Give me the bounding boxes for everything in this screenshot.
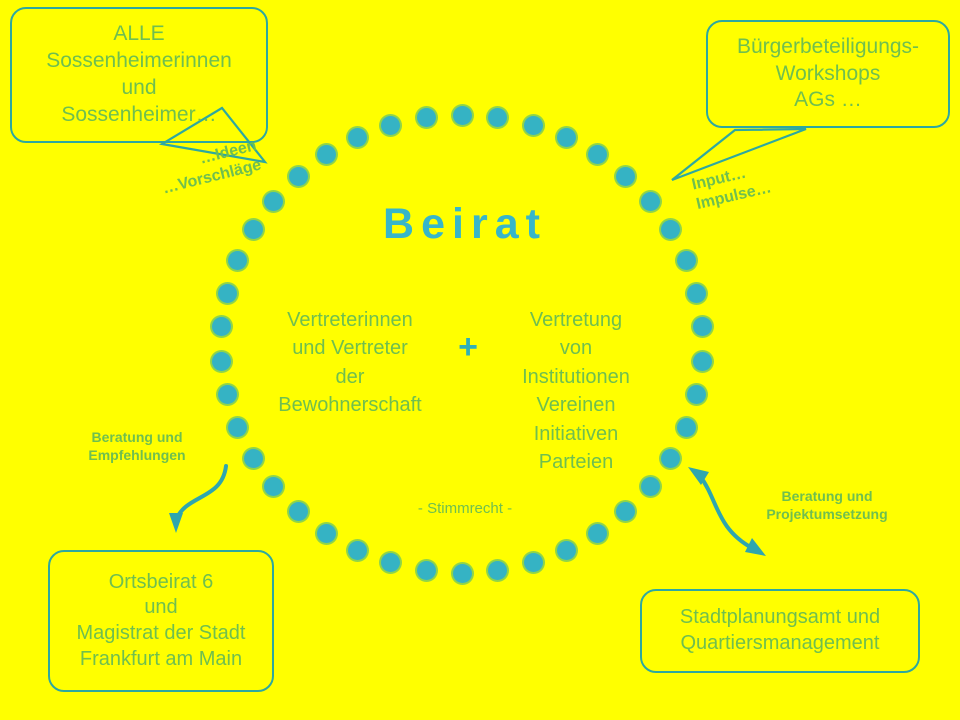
ring-dot [264, 192, 283, 211]
ring-dot [317, 524, 336, 543]
ring-dot [661, 449, 680, 468]
ring-dot [524, 553, 543, 572]
ring-dot [641, 477, 660, 496]
bubble-ortsbeirat-magistrat[interactable]: Ortsbeirat 6 und Magistrat der Stadt Fra… [48, 550, 274, 692]
bubble-ortsbeirat-magistrat-label: Ortsbeirat 6 und Magistrat der Stadt Fra… [60, 570, 262, 672]
ring-dot [677, 418, 696, 437]
ring-dot [616, 502, 635, 521]
ring-dot [289, 167, 308, 186]
ring-dot [417, 561, 436, 580]
ring-dot [381, 116, 400, 135]
ring-dot [453, 564, 472, 583]
ring-dot [677, 251, 696, 270]
arrow-label-beratung-empfehlungen: Beratung und Empfehlungen [62, 428, 212, 464]
ring-dot [218, 284, 237, 303]
ring-dot [348, 128, 367, 147]
ring-dot [616, 167, 635, 186]
ring-dot [693, 352, 712, 371]
ring-dot [687, 385, 706, 404]
ring-dot [228, 251, 247, 270]
ring-dot [228, 418, 247, 437]
center-column-right: Vertretung von Institutionen Vereinen In… [488, 306, 664, 476]
ring-dot [588, 145, 607, 164]
bubble-stadtplanungsamt-quartiersmanagement-label: Stadtplanungsamt und Quartiersmanagement [652, 605, 908, 656]
stimmrecht-footnote: - Stimmrecht - [357, 500, 573, 517]
ring-dot [693, 317, 712, 336]
bubble-alle-sossenheimer[interactable]: ALLE Sossenheimerinnen und Sossenheimer… [10, 7, 268, 143]
ring-dot [524, 116, 543, 135]
bubble-stadtplanungsamt-quartiersmanagement[interactable]: Stadtplanungsamt und Quartiersmanagement [640, 589, 920, 673]
ring-dot [557, 128, 576, 147]
ring-dot [348, 541, 367, 560]
ring-dot [687, 284, 706, 303]
ring-dot [244, 220, 263, 239]
arrow-label-beratung-projektumsetzung: Beratung und Projektumsetzung [742, 487, 912, 523]
ring-dot [317, 145, 336, 164]
plus-icon: + [445, 330, 491, 364]
ring-dot [264, 477, 283, 496]
center-column-left: Vertreterinnen und Vertreter der Bewohne… [262, 306, 438, 420]
bubble-buergerbeteiligungs-workshops[interactable]: Bürgerbeteiligungs- Workshops AGs … [706, 20, 950, 128]
ring-dot [641, 192, 660, 211]
ring-dot [453, 106, 472, 125]
ring-dot [218, 385, 237, 404]
ring-dot [212, 317, 231, 336]
diagram-canvas: Beirat Vertreterinnen und Vertreter der … [0, 0, 960, 720]
ring-dot [212, 352, 231, 371]
ring-dot [244, 449, 263, 468]
ring-dot [289, 502, 308, 521]
bubble-buergerbeteiligungs-workshops-label: Bürgerbeteiligungs- Workshops AGs … [718, 34, 938, 115]
ring-dot [588, 524, 607, 543]
page-title: Beirat [300, 200, 630, 249]
ring-dot [417, 108, 436, 127]
ring-dot [488, 108, 507, 127]
ring-dot [488, 561, 507, 580]
bubble-alle-sossenheimer-label: ALLE Sossenheimerinnen und Sossenheimer… [22, 21, 256, 129]
ring-dot [557, 541, 576, 560]
ring-dot [381, 553, 400, 572]
ring-dot [661, 220, 680, 239]
